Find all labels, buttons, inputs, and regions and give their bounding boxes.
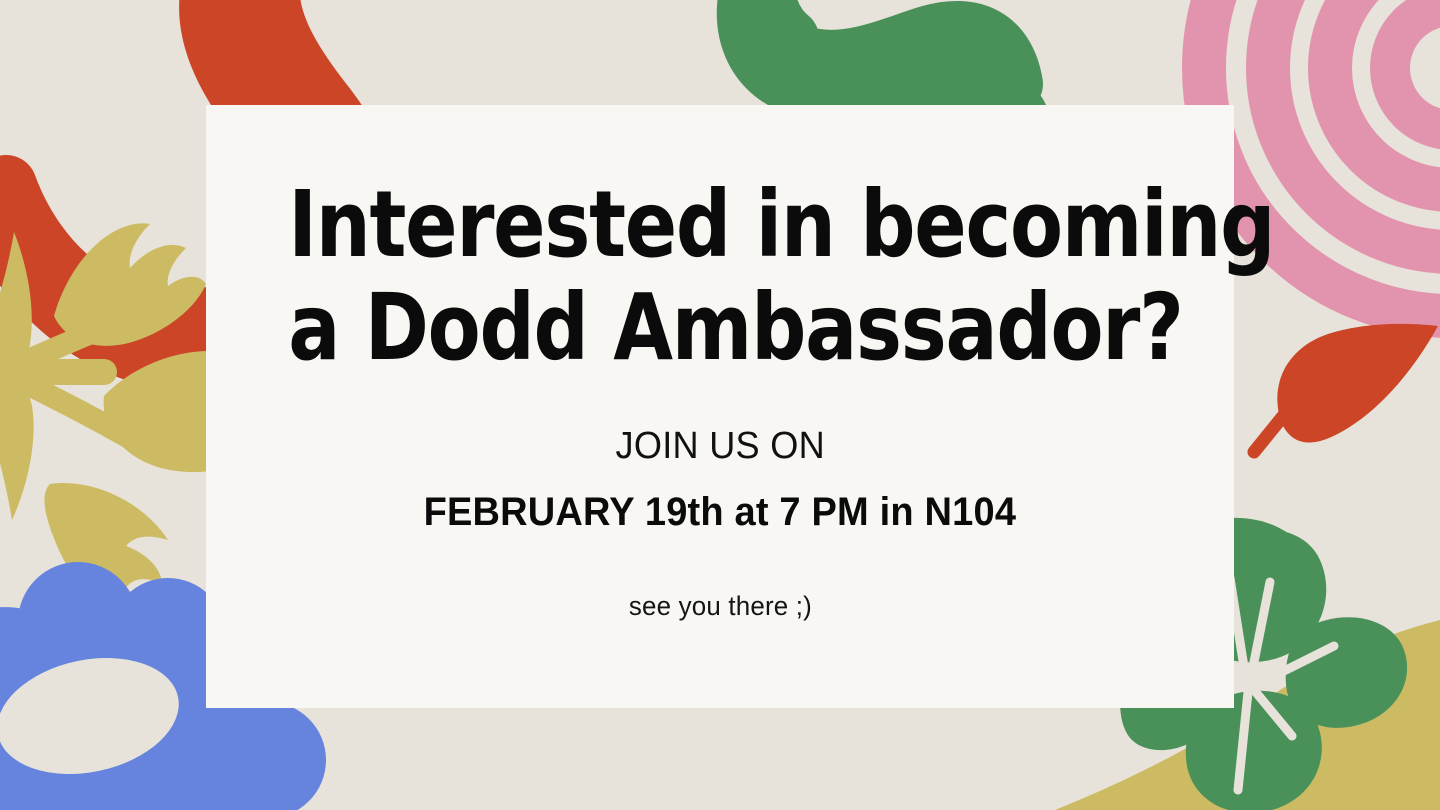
page-title: Interested in becoming a Dodd Ambassador… — [288, 173, 1152, 379]
event-flyer: Interested in becoming a Dodd Ambassador… — [0, 0, 1440, 810]
headline-line-2: a Dodd Ambassador? — [288, 276, 1152, 379]
join-us-label: JOIN US ON — [615, 379, 824, 468]
signoff-text: see you there ;) — [628, 535, 811, 622]
flyer-content: Interested in becoming a Dodd Ambassador… — [206, 105, 1234, 708]
headline-line-1: Interested in becoming — [288, 173, 1152, 276]
event-date-time-location: FEBRUARY 19th at 7 PM in N104 — [424, 468, 1017, 535]
red-leaf — [1254, 324, 1438, 452]
